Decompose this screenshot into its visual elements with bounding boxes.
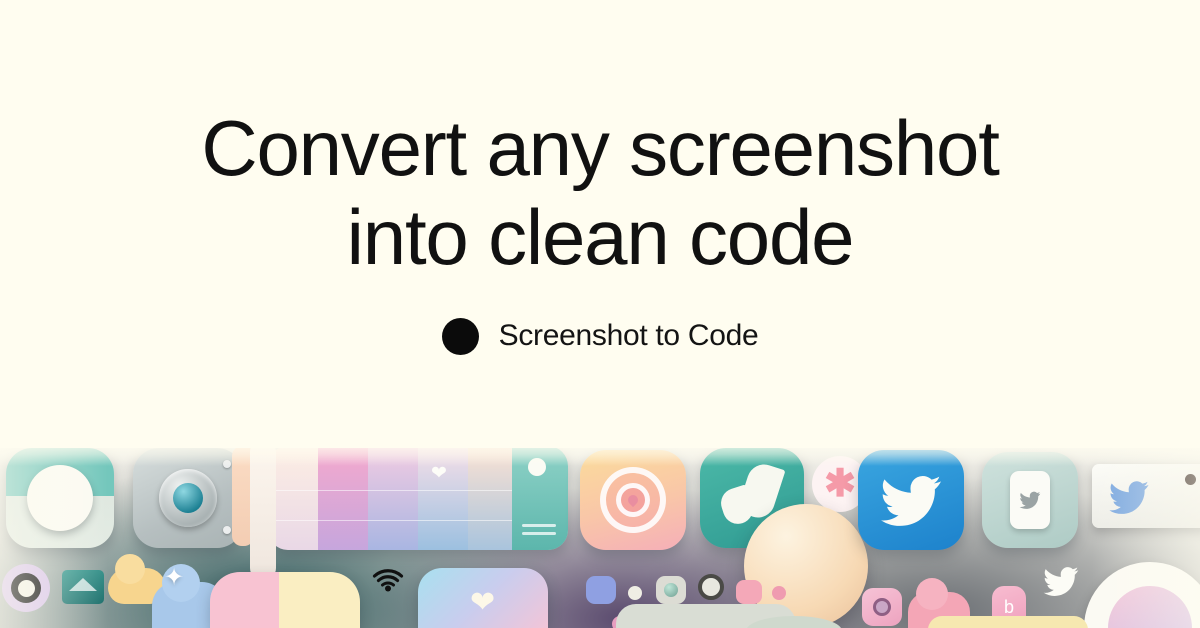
headline-line-1: Convert any screenshot bbox=[201, 104, 998, 192]
camera-flash-dot bbox=[223, 460, 231, 468]
hero-section: Convert any screenshot into clean code S… bbox=[0, 0, 1200, 448]
pin-ring-inner bbox=[616, 483, 650, 517]
cyan-pink-gradient-tile: ❤ bbox=[418, 568, 548, 628]
brand-name-label: Screenshot to Code bbox=[499, 319, 759, 353]
dark-ring-mini-icon bbox=[698, 574, 724, 600]
instagram-style-mini-icon bbox=[862, 588, 902, 626]
palette-column bbox=[368, 446, 418, 550]
yellow-bottom-tile bbox=[928, 616, 1088, 628]
ring-inner-dark bbox=[11, 573, 41, 603]
white-card-with-bird bbox=[1092, 464, 1200, 528]
mint-card-app-icon bbox=[982, 452, 1078, 548]
white-heart-icon: ❤ bbox=[431, 464, 451, 482]
headline-line-2: into clean code bbox=[201, 193, 998, 282]
panel-bar bbox=[522, 532, 556, 535]
app-icon-image-strip: ❤ ✦ ❤ ✱ bbox=[0, 440, 1200, 628]
page-title: Convert any screenshot into clean code bbox=[201, 104, 998, 282]
pink-bead-icon bbox=[772, 586, 786, 600]
white-twitter-bird-icon bbox=[1042, 566, 1080, 596]
camera-lens-outer bbox=[159, 469, 217, 527]
panel-dot-icon bbox=[528, 458, 546, 476]
wifi-icon bbox=[370, 568, 406, 594]
panel-bar bbox=[522, 524, 556, 527]
blue-bird-icon bbox=[1106, 480, 1152, 514]
white-disc-shape bbox=[27, 465, 93, 531]
gray-mini-app-icon bbox=[656, 576, 686, 604]
teal-envelope-icon bbox=[62, 570, 104, 604]
palette-column bbox=[318, 446, 368, 550]
pastel-palette-grid: ❤ bbox=[268, 446, 568, 550]
white-strip-shape bbox=[250, 440, 276, 580]
teal-rounded-app-icon bbox=[6, 448, 114, 548]
camera-dot-icon bbox=[1185, 474, 1196, 485]
ring-inner-light bbox=[18, 580, 35, 597]
lavender-ring-icon bbox=[2, 564, 50, 612]
twitter-bird-icon bbox=[879, 474, 943, 526]
filled-circle-logo-icon bbox=[442, 318, 479, 355]
location-pin-app-icon bbox=[580, 450, 686, 550]
sparkle-icon: ✦ bbox=[164, 566, 184, 590]
blue-mini-tile bbox=[586, 576, 616, 604]
palette-column bbox=[418, 446, 468, 550]
pink-cream-split-tile bbox=[210, 572, 360, 628]
white-bead-icon bbox=[628, 586, 642, 600]
camera-app-icon bbox=[133, 448, 243, 548]
camera-sensor-dot bbox=[223, 526, 231, 534]
pin-ring-outer bbox=[600, 467, 666, 533]
teal-side-panel bbox=[512, 446, 568, 550]
gray-bird-icon bbox=[1019, 491, 1041, 509]
palette-column bbox=[468, 446, 518, 550]
pink-mini-tile bbox=[736, 580, 762, 604]
camera-lens-inner bbox=[173, 483, 203, 513]
cream-heart-icon: ❤ bbox=[470, 588, 495, 618]
brand-lockup: Screenshot to Code bbox=[442, 318, 759, 355]
map-pin-icon bbox=[626, 493, 640, 507]
white-card-shape bbox=[1010, 471, 1050, 529]
twitter-bird-app-icon bbox=[858, 450, 964, 550]
